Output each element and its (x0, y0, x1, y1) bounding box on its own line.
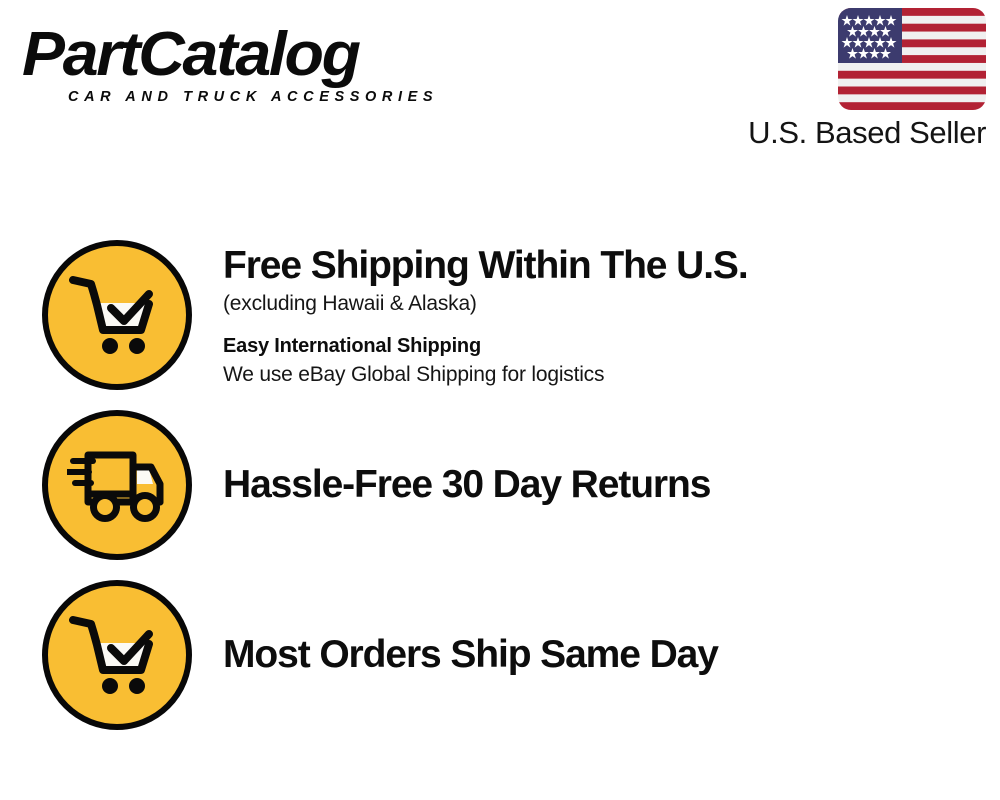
brand-tagline: CAR AND TRUCK ACCESSORIES (68, 89, 492, 105)
shopping-cart-check-icon (42, 580, 192, 730)
feature-subtext: (excluding Hawaii & Alaska) (223, 289, 1000, 319)
delivery-truck-icon (42, 410, 192, 560)
us-flag-icon (838, 8, 986, 110)
feature-heading: Free Shipping Within The U.S. (223, 242, 1000, 289)
feature-item: Most Orders Ship Same Day (0, 580, 1000, 730)
feature-text: Hassle-Free 30 Day Returns (223, 410, 1000, 508)
feature-heading: Most Orders Ship Same Day (223, 631, 1000, 678)
shopping-cart-check-icon (42, 240, 192, 390)
feature-item: Free Shipping Within The U.S. (excluding… (0, 240, 1000, 390)
feature-heading: Hassle-Free 30 Day Returns (223, 461, 1000, 508)
feature-subtext-strong: Easy International Shipping (223, 332, 1000, 360)
brand-wordmark: PartCatalog (22, 22, 511, 88)
feature-text: Most Orders Ship Same Day (223, 580, 1000, 678)
feature-subtext-detail: We use eBay Global Shipping for logistic… (223, 360, 1000, 389)
feature-item: Hassle-Free 30 Day Returns (0, 410, 1000, 560)
page-header: PartCatalog CAR AND TRUCK ACCESSORIES (0, 0, 1000, 170)
feature-text: Free Shipping Within The U.S. (excluding… (223, 240, 1000, 389)
seller-badge-label: U.S. Based Seller (716, 114, 986, 152)
us-based-seller-badge: U.S. Based Seller (716, 8, 986, 152)
partcatalog-logo[interactable]: PartCatalog CAR AND TRUCK ACCESSORIES (22, 22, 492, 114)
